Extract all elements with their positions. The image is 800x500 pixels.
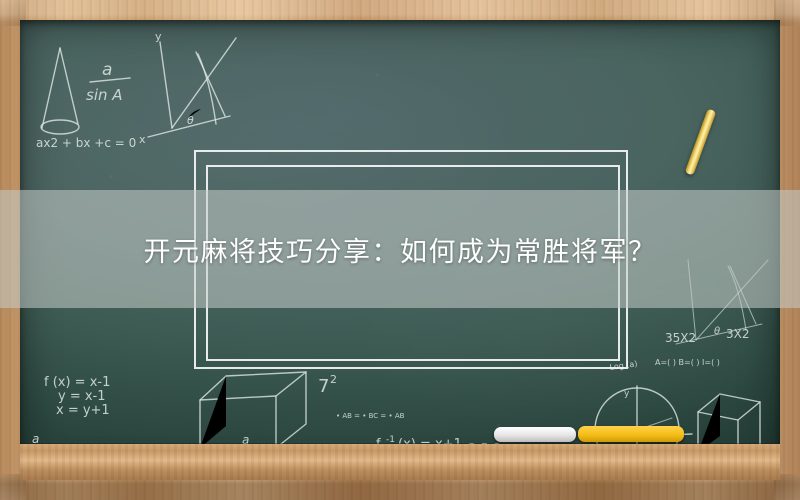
matrix-notes: 35X2 3X2 A=( ) B=( ) I=( ) bbox=[655, 327, 750, 367]
chalk-tray bbox=[20, 444, 780, 480]
chalkboard-banner-scene: a sin A y x θ ax2 + bx +c = bbox=[0, 0, 800, 500]
yellow-chalk-piece-icon bbox=[578, 426, 684, 442]
white-chalk-piece-icon bbox=[494, 427, 576, 442]
svg-text:f (x) = x-1: f (x) = x-1 bbox=[44, 375, 110, 390]
axis-marks-right bbox=[580, 412, 586, 424]
angle-diagram-topleft: y x θ bbox=[139, 30, 236, 146]
yellow-chalk-stick-icon bbox=[685, 109, 717, 176]
cube-drawing-center bbox=[200, 372, 306, 448]
function-lines-bottomleft: f (x) = x-1 y = x-1 x = y+1 bbox=[44, 375, 110, 418]
svg-text:x: x bbox=[139, 133, 146, 146]
quadratic-equation: ax2 + bx +c = 0 bbox=[36, 136, 136, 150]
svg-text:A=( ) B=( ) I=( ): A=( ) B=( ) I=( ) bbox=[655, 358, 720, 367]
title-overlay-band: 开元麻将技巧分享：如何成为常胜将军？ bbox=[0, 190, 800, 308]
svg-text:y: y bbox=[624, 389, 630, 399]
svg-text:θ: θ bbox=[714, 326, 720, 337]
svg-text:sin A: sin A bbox=[86, 86, 123, 104]
svg-text:35X2: 35X2 bbox=[665, 331, 696, 345]
svg-text:3X2: 3X2 bbox=[726, 327, 750, 341]
svg-text:x = y+1: x = y+1 bbox=[56, 403, 110, 418]
svg-text:y = x-1: y = x-1 bbox=[58, 389, 106, 404]
svg-text:a: a bbox=[102, 60, 112, 80]
fraction-a-sin-a-topleft: a sin A bbox=[86, 60, 130, 104]
svg-text:7: 7 bbox=[318, 376, 329, 397]
seven-squared: 7 2 bbox=[318, 373, 337, 397]
page-title: 开元麻将技巧分享：如何成为常胜将军？ bbox=[144, 230, 657, 269]
svg-text:y: y bbox=[155, 30, 162, 43]
svg-text:θ: θ bbox=[187, 114, 194, 127]
svg-text:2: 2 bbox=[330, 373, 337, 386]
small-ab-formula: • AB = • BC = • AB bbox=[336, 412, 405, 420]
cone-drawing bbox=[41, 48, 79, 134]
